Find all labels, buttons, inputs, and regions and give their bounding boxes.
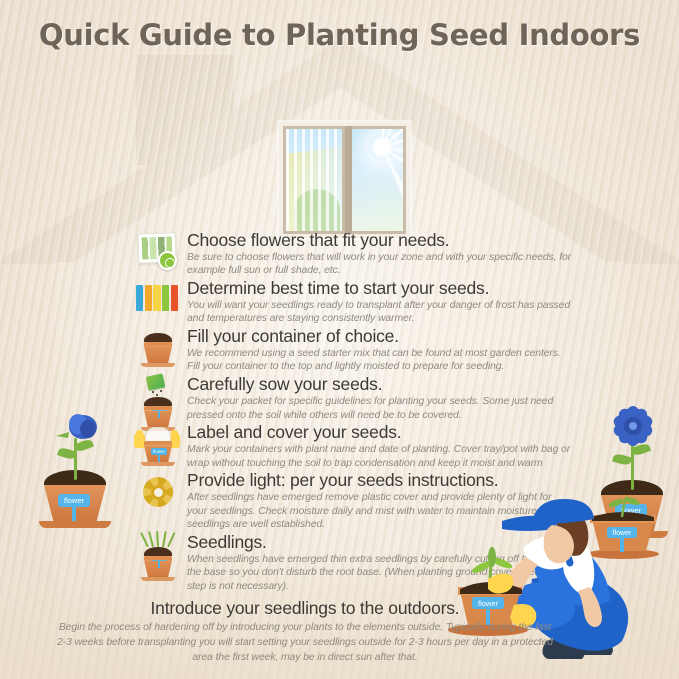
pot-body: flower <box>44 485 106 521</box>
sun-icon <box>369 134 395 160</box>
seed-catalog-icon <box>134 231 180 277</box>
page-title: Quick Guide to Planting Seed Indoors <box>0 18 679 52</box>
gloves-covering-pot-icon: flower <box>134 423 180 469</box>
empty-pot-icon <box>134 327 180 373</box>
step-heading: Choose flowers that fit your needs. <box>187 231 574 251</box>
sun-light-icon <box>134 471 180 517</box>
window-pane-right <box>347 129 403 231</box>
seedlings-pot-icon: flower <box>134 529 180 575</box>
outro-heading: Introduce your seedlings to the outdoors… <box>55 598 555 619</box>
window-illustration <box>279 122 410 238</box>
step-heading: Fill your container of choice. <box>187 327 574 347</box>
step-heading: Determine best time to start your seeds. <box>187 279 574 299</box>
step-body: We recommend using a seed starter mix th… <box>187 347 574 374</box>
step-determine-time: Determine best time to start your seeds.… <box>134 279 574 326</box>
blue-flower-bud-icon <box>52 410 114 444</box>
background-pot: flower <box>587 495 659 559</box>
outro-block: Introduce your seedlings to the outdoors… <box>55 598 555 665</box>
pot-saucer <box>39 521 111 528</box>
step-sow-seeds: flower Carefully sow your seeds. Check y… <box>134 375 574 422</box>
window-blinds <box>286 129 342 231</box>
pot-label-tag: flower <box>58 494 90 507</box>
step-heading: Carefully sow your seeds. <box>187 375 574 395</box>
window-pane-left <box>286 129 342 231</box>
svg-text:flower: flower <box>613 530 632 537</box>
blue-star-flower-icon <box>597 402 669 450</box>
outro-body: Begin the process of hardening off by in… <box>55 621 555 665</box>
step-body: Be sure to choose flowers that will work… <box>187 251 574 278</box>
step-label-cover: flower Label and cover your seeds. Mark … <box>134 423 574 470</box>
step-body: You will want your seedlings ready to tr… <box>187 299 574 326</box>
step-body: Check your packet for specific guideline… <box>187 395 574 422</box>
step-heading: Provide light: per your seeds instructio… <box>187 471 574 491</box>
calendar-swatches-icon <box>134 279 180 325</box>
window-mullion <box>345 126 352 234</box>
left-flower-pot: flower <box>44 470 106 528</box>
infographic-canvas: Quick Guide to Planting Seed Indoors flo… <box>0 0 679 679</box>
step-body: Mark your containers with plant name and… <box>187 443 574 470</box>
step-fill-container: Fill your container of choice. We recomm… <box>134 327 574 374</box>
step-heading: Label and cover your seeds. <box>187 423 574 443</box>
seed-packet-sowing-icon: flower <box>134 375 180 421</box>
step-choose-flowers: Choose flowers that fit your needs. Be s… <box>134 231 574 278</box>
